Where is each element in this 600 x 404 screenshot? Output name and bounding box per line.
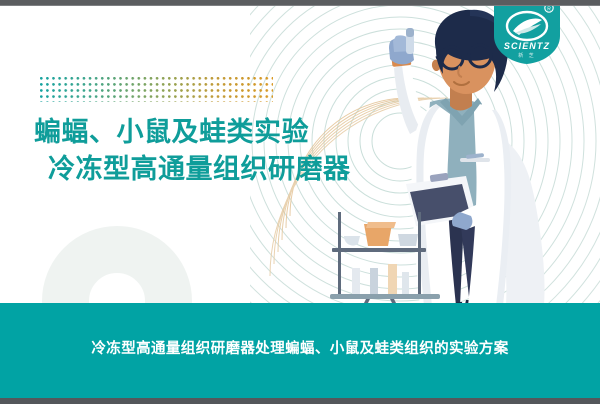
- scientz-logo-badge[interactable]: R SCIENTZ 新 芝: [494, 6, 560, 64]
- poster-canvas: 蝙蝠、小鼠及蛙类实验 冷冻型高通量组织研磨器 冷冻型高通量组织研磨器处理蝙蝠、小…: [0, 6, 600, 398]
- headline-line-2: 冷冻型高通量组织研磨器: [48, 151, 454, 188]
- banner-caption: 冷冻型高通量组织研磨器处理蝙蝠、小鼠及蛙类组织的实验方案: [0, 337, 600, 358]
- bottom-banner: 冷冻型高通量组织研磨器处理蝙蝠、小鼠及蛙类组织的实验方案: [0, 303, 600, 398]
- brand-sub-name: 新 芝: [494, 52, 560, 59]
- headline-line-1: 蝙蝠、小鼠及蛙类实验: [34, 114, 454, 151]
- brand-name: SCIENTZ: [494, 41, 560, 51]
- dot-grid-decoration: [40, 77, 273, 102]
- poster-root: 蝙蝠、小鼠及蛙类实验 冷冻型高通量组织研磨器 冷冻型高通量组织研磨器处理蝙蝠、小…: [0, 0, 600, 404]
- window-chrome-bottom-bar: [0, 398, 600, 404]
- page-title: 蝙蝠、小鼠及蛙类实验 冷冻型高通量组织研磨器: [34, 114, 454, 188]
- lab-cart-illustration: [330, 206, 440, 311]
- svg-text:R: R: [547, 6, 551, 12]
